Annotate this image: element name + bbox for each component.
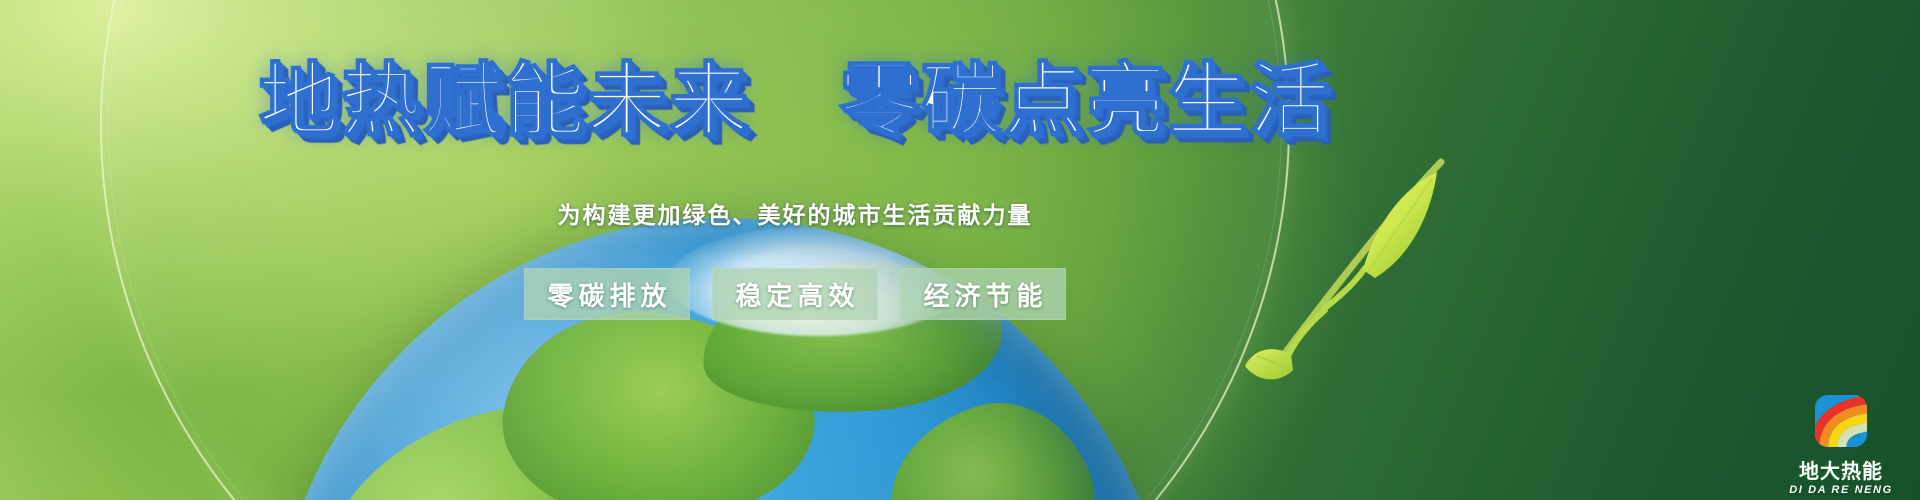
rainbow-arc-in-rounded-square-icon: [1806, 393, 1876, 459]
feature-tag-list: 零碳排放 稳定高效 经济节能: [0, 268, 1590, 320]
feature-tag-zero-carbon[interactable]: 零碳排放: [524, 268, 690, 320]
hero-banner: 地热赋能未来 零碳点亮生活 为构建更加绿色、美好的城市生活贡献力量 零碳排放 稳…: [0, 0, 1920, 500]
banner-title-line-2: 零碳点亮生活: [839, 58, 1331, 144]
company-logo[interactable]: 地大热能 DI DA RE NENG: [1778, 384, 1904, 496]
logo-name-en: DI DA RE NENG: [1789, 485, 1893, 496]
feature-tag-economical[interactable]: 经济节能: [900, 268, 1066, 320]
logo-name-cn: 地大热能: [1799, 462, 1883, 482]
feature-tag-stable-efficient[interactable]: 稳定高效: [712, 268, 878, 320]
earth-globe-icon: [272, 218, 1172, 500]
banner-subtitle: 为构建更加绿色、美好的城市生活贡献力量: [0, 196, 1590, 230]
banner-title: 地热赋能未来 零碳点亮生活: [0, 58, 1590, 144]
banner-title-line-1: 地热赋能未来: [259, 58, 751, 144]
